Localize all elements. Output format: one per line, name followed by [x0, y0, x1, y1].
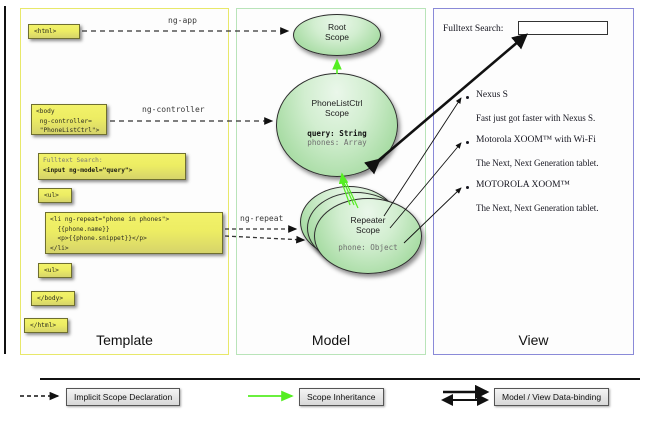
view-item-name-1: Motorola XOOM™ with Wi-Fi: [476, 135, 596, 145]
repeater-scope-prop-phone: phone: Object: [315, 243, 421, 252]
connector-label-ng-app: ng-app: [168, 16, 197, 25]
view-search-input[interactable]: [518, 21, 608, 35]
ctrl-scope-line2: Scope: [277, 108, 397, 118]
view-bullet-0: [466, 96, 469, 99]
view-item-name-0: Nexus S: [476, 90, 508, 100]
code-box-fulltext-search: Fulltext Search: <input ng-model="query"…: [38, 153, 186, 180]
code-box-body-close: </body>: [31, 291, 75, 306]
legend-label-implicit-scope: Implicit Scope Declaration: [66, 388, 180, 406]
code-box-body-open: <body ng-controller= "PhoneListCtrl">: [31, 104, 107, 135]
legend-divider: [40, 378, 640, 380]
code-box-ul-close: <ul>: [38, 263, 72, 278]
code-search-label: Fulltext Search:: [43, 157, 103, 164]
legend-label-scope-inheritance: Scope Inheritance: [299, 388, 384, 406]
panel-title-model: Model: [237, 332, 425, 348]
panel-model: Model: [236, 8, 426, 355]
repeater-scope-line1: Repeater: [315, 215, 421, 225]
view-item-name-2: MOTOROLA XOOM™: [476, 180, 570, 190]
view-bullet-2: [466, 186, 469, 189]
diagram-canvas: Template Model View <html> <body ng-cont…: [0, 0, 645, 425]
root-scope-line2: Scope: [294, 32, 380, 42]
root-scope: Root Scope: [293, 14, 381, 56]
ctrl-scope-line1: PhoneListCtrl: [277, 98, 397, 108]
connector-label-ng-controller: ng-controller: [142, 105, 205, 114]
view-item-desc-2: The Next, Next Generation tablet.: [476, 203, 598, 213]
ctrl-scope-prop-query: query: String: [277, 129, 397, 138]
root-scope-line1: Root: [294, 22, 380, 32]
code-search-input: <input ng-model="query">: [43, 167, 132, 174]
view-item-desc-1: The Next, Next Generation tablet.: [476, 158, 598, 168]
view-search-label: Fulltext Search:: [443, 24, 503, 34]
legend-glyph-data-binding: [443, 392, 487, 400]
view-bullet-1: [466, 141, 469, 144]
figure-left-rule: [4, 6, 6, 354]
phonelistctrl-scope: PhoneListCtrl Scope query: String phones…: [276, 73, 398, 177]
code-box-html-open: <html>: [28, 24, 80, 39]
code-box-li-repeat: <li ng-repeat="phone in phones"> {{phone…: [45, 212, 223, 254]
code-box-html-close: </html>: [24, 318, 68, 333]
repeater-scope-line2: Scope: [315, 225, 421, 235]
legend-label-data-binding: Model / View Data-binding: [494, 388, 609, 406]
code-box-ul-open: <ul>: [38, 188, 72, 203]
connector-label-ng-repeat: ng-repeat: [240, 214, 283, 223]
panel-title-template: Template: [21, 332, 228, 348]
panel-title-view: View: [434, 332, 633, 348]
view-item-desc-0: Fast just got faster with Nexus S.: [476, 113, 595, 123]
repeater-scope: Repeater Scope phone: Object: [314, 198, 422, 274]
ctrl-scope-prop-phones: phones: Array: [277, 138, 397, 147]
